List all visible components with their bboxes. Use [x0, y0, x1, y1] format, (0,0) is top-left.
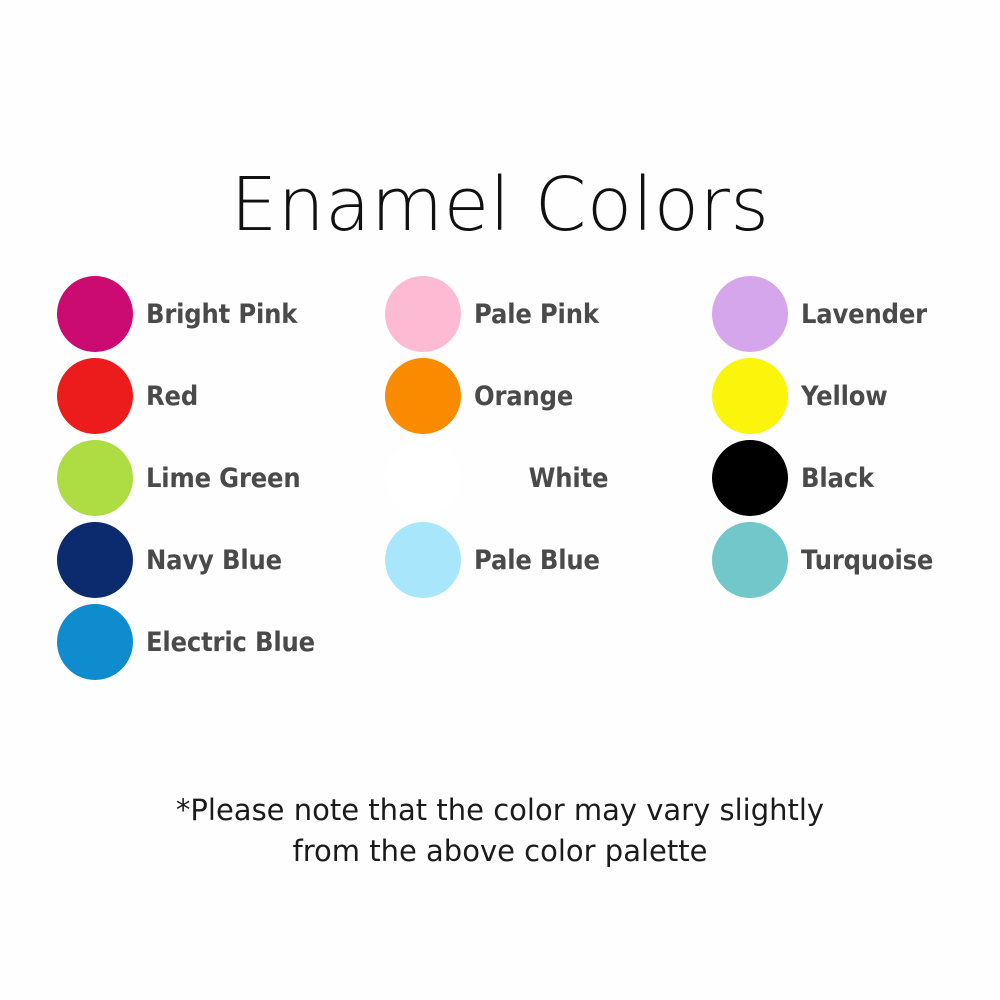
swatch-label: Red: [146, 383, 198, 410]
color-swatch-circle: [712, 440, 788, 516]
swatch-label: White: [472, 465, 666, 492]
swatch-label: Pale Blue: [474, 547, 600, 574]
swatch-label: Electric Blue: [146, 629, 315, 656]
color-swatch-circle: [57, 522, 133, 598]
swatch-item-orange[interactable]: Orange: [385, 358, 685, 434]
swatch-label: Yellow: [801, 383, 888, 410]
swatch-item-turquoise[interactable]: Turquoise: [712, 522, 1000, 598]
palette-column-1: Bright Pink Red Lime Green Navy Blue Ele…: [57, 276, 357, 676]
swatch-item-black[interactable]: Black: [712, 440, 1000, 516]
swatch-item-electric-blue[interactable]: Electric Blue: [57, 604, 357, 680]
color-swatch-circle: [712, 276, 788, 352]
swatch-item-white[interactable]: White: [385, 440, 685, 516]
disclaimer-note-line-2: from the above color palette: [0, 831, 1000, 872]
color-swatch-circle: [712, 522, 788, 598]
palette-column-3: Lavender Yellow Black Turquoise: [712, 276, 1000, 676]
disclaimer-note: *Please note that the color may vary sli…: [0, 790, 1000, 872]
swatch-label: Lavender: [801, 301, 927, 328]
swatch-label: Navy Blue: [146, 547, 282, 574]
swatch-item-pale-pink[interactable]: Pale Pink: [385, 276, 685, 352]
disclaimer-note-line-1: *Please note that the color may vary sli…: [0, 790, 1000, 831]
color-swatch-circle: [385, 522, 461, 598]
swatch-item-lime-green[interactable]: Lime Green: [57, 440, 357, 516]
swatch-label: Lime Green: [146, 465, 300, 492]
color-swatch-circle: [57, 276, 133, 352]
swatch-label: Bright Pink: [146, 301, 297, 328]
swatch-item-navy-blue[interactable]: Navy Blue: [57, 522, 357, 598]
color-swatch-circle: [57, 440, 133, 516]
swatch-label: Black: [801, 465, 874, 492]
color-swatch-circle: [57, 604, 133, 680]
color-swatch-circle: [385, 276, 461, 352]
color-palette-grid: Bright Pink Red Lime Green Navy Blue Ele…: [0, 276, 1000, 676]
swatch-item-bright-pink[interactable]: Bright Pink: [57, 276, 357, 352]
color-swatch-circle: [57, 358, 133, 434]
swatch-label: Pale Pink: [474, 301, 599, 328]
swatch-item-lavender[interactable]: Lavender: [712, 276, 1000, 352]
page-title: Enamel Colors: [0, 168, 1000, 242]
color-swatch-circle: [385, 358, 461, 434]
swatch-item-pale-blue[interactable]: Pale Blue: [385, 522, 685, 598]
swatch-item-yellow[interactable]: Yellow: [712, 358, 1000, 434]
color-chart-page: Enamel Colors Bright Pink Red Lime Green…: [0, 0, 1000, 1000]
palette-column-2: Pale Pink Orange White Pale Blue: [385, 276, 685, 676]
color-swatch-circle: [712, 358, 788, 434]
color-swatch-circle: [385, 440, 461, 516]
swatch-label: Orange: [474, 383, 573, 410]
swatch-label: Turquoise: [801, 547, 933, 574]
swatch-item-red[interactable]: Red: [57, 358, 357, 434]
